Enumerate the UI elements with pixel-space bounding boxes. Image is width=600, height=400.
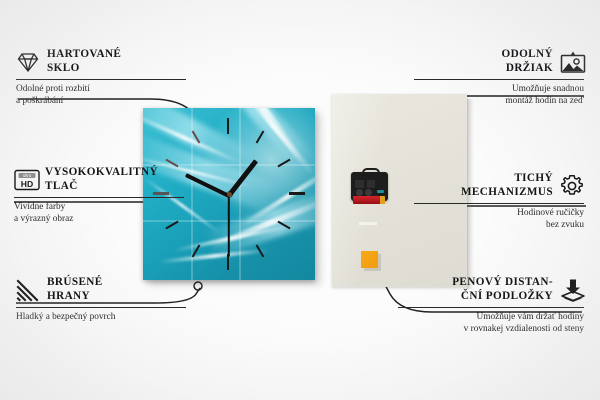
infographic-canvas: HARTOVANÉ SKLO Odolné proti rozbití a po…: [0, 0, 600, 400]
feature-high-quality-print[interactable]: ultra HD VYSOKOKVALITNÝ TLAČ Vivídne far…: [14, 166, 184, 225]
feature-header: HARTOVANÉ SKLO: [16, 48, 186, 75]
feature-title: HARTOVANÉ SKLO: [47, 48, 121, 75]
feature-desc-line1: Hladký a bezpečný povrch: [16, 312, 186, 324]
feature-desc-line2: montáž hodin na zeď: [414, 96, 584, 108]
feature-title: VYSOKOKVALITNÝ TLAČ: [45, 166, 158, 193]
feature-desc-line2: a poškrábání: [16, 96, 186, 108]
feature-beveled-edges[interactable]: BRÚSENÉ HRANY Hladký a bezpečný povrch: [16, 276, 186, 324]
feature-header: TICHÝ MECHANIZMUS: [414, 172, 584, 199]
feature-desc-line2: v rovnakej vzdialenosti od steny: [398, 324, 584, 336]
feature-header: ODOLNÝ DRŽIAK: [414, 48, 584, 75]
feature-hardened-glass[interactable]: HARTOVANÉ SKLO Odolné proti rozbití a po…: [16, 48, 186, 107]
battery-label: [359, 222, 377, 225]
feature-desc-line1: Odolné proti rozbití: [16, 84, 186, 96]
clock-mechanism: [351, 168, 388, 201]
mechanism-block-2: [367, 180, 375, 188]
mechanism-body: [351, 172, 388, 201]
feature-desc-line1: Umožňuje vám držať hodiny: [398, 312, 584, 324]
divider: [414, 79, 584, 80]
svg-text:HD: HD: [21, 179, 33, 189]
feature-foam-spacers[interactable]: PENOVÝ DISTAN- ČNÍ PODLOŽKY Umožňuje vám…: [398, 276, 584, 335]
mechanism-label: [377, 190, 384, 193]
feature-silent-mechanism[interactable]: TICHÝ MECHANIZMUS Hodinové ručičky bez z…: [414, 172, 584, 231]
picture-hanger-icon: [560, 50, 584, 74]
feature-title: BRÚSENÉ HRANY: [47, 276, 103, 303]
mechanism-dial-1: [356, 189, 363, 196]
mechanism-dial-2: [365, 189, 372, 196]
feature-header: PENOVÝ DISTAN- ČNÍ PODLOŽKY: [398, 276, 584, 303]
mechanism-block-1: [355, 180, 364, 188]
svg-text:ultra: ultra: [23, 173, 32, 178]
feature-title: TICHÝ MECHANIZMUS: [461, 172, 553, 199]
feature-header: BRÚSENÉ HRANY: [16, 276, 186, 303]
foam-pad-icon: [560, 278, 584, 302]
divider: [14, 197, 184, 198]
feature-desc-line2: bez zvuku: [414, 220, 584, 232]
ultra-hd-icon: ultra HD: [14, 168, 38, 192]
divider: [16, 79, 186, 80]
foam-spacer-pad: [361, 251, 378, 268]
gear-icon: [560, 174, 584, 198]
feature-header: ultra HD VYSOKOKVALITNÝ TLAČ: [14, 166, 184, 193]
diamond-icon: [16, 50, 40, 74]
divider: [398, 307, 584, 308]
feature-desc-line2: a výrazný obraz: [14, 214, 184, 226]
divider: [414, 203, 584, 204]
feature-title: PENOVÝ DISTAN- ČNÍ PODLOŽKY: [452, 276, 553, 303]
feature-desc-line1: Umožňuje snadnou: [414, 84, 584, 96]
beveled-edges-icon: [16, 278, 40, 302]
feature-desc-line1: Hodinové ručičky: [414, 208, 584, 220]
divider: [16, 307, 186, 308]
feature-durable-hanger[interactable]: ODOLNÝ DRŽIAK Umožňuje snadnou montáž ho…: [414, 48, 584, 107]
feature-title: ODOLNÝ DRŽIAK: [501, 48, 553, 75]
feature-desc-line1: Vivídne farby: [14, 202, 184, 214]
battery-terminal: [380, 196, 385, 204]
second-hand: [228, 195, 230, 257]
hand-center-pin: [227, 192, 232, 197]
